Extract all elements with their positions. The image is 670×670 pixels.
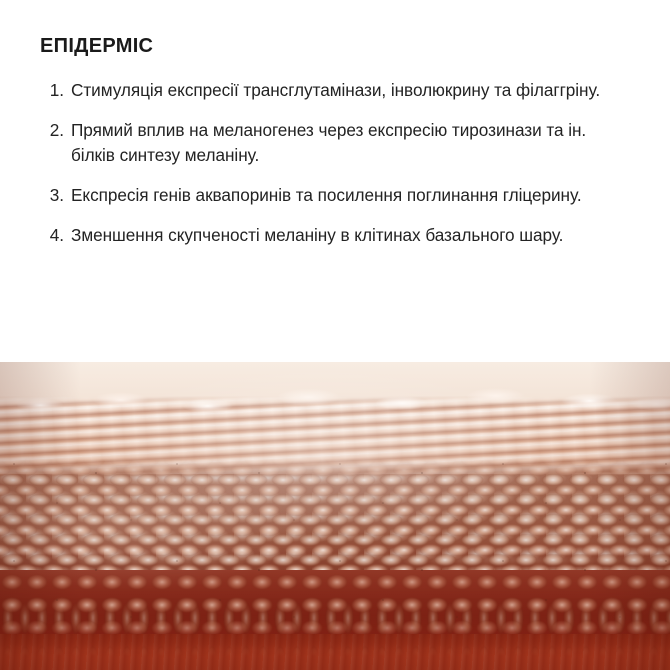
list-item: 4. Зменшення скупченості меланіну в кліт… xyxy=(40,223,636,248)
list-item-number: 3. xyxy=(40,183,71,208)
list-item: 1. Стимуляція експресії трансглутамінази… xyxy=(40,78,636,103)
list-item: 2. Прямий вплив на меланогенез через екс… xyxy=(40,118,636,168)
list-item-number: 2. xyxy=(40,118,71,143)
epidermis-cross-section-illustration xyxy=(0,362,670,670)
list-item-text: Стимуляція експресії трансглутамінази, і… xyxy=(71,78,616,103)
list-item-text: Експресія генів аквапоринів та посилення… xyxy=(71,183,616,208)
list-item-text: Прямий вплив на меланогенез через експре… xyxy=(71,118,616,168)
list-item-number: 4. xyxy=(40,223,71,248)
list-item-number: 1. xyxy=(40,78,71,103)
list-item-text: Зменшення скупченості меланіну в клітина… xyxy=(71,223,616,248)
text-content-block: ЕПІДЕРМІС 1. Стимуляція експресії трансг… xyxy=(0,0,670,362)
page-title: ЕПІДЕРМІС xyxy=(40,34,636,58)
list-item: 3. Експресія генів аквапоринів та посиле… xyxy=(40,183,636,208)
skin-surface-edge xyxy=(0,380,670,416)
numbered-list: 1. Стимуляція експресії трансглутамінази… xyxy=(40,78,636,248)
slide-root: ЕПІДЕРМІС 1. Стимуляція експресії трансг… xyxy=(0,0,670,670)
